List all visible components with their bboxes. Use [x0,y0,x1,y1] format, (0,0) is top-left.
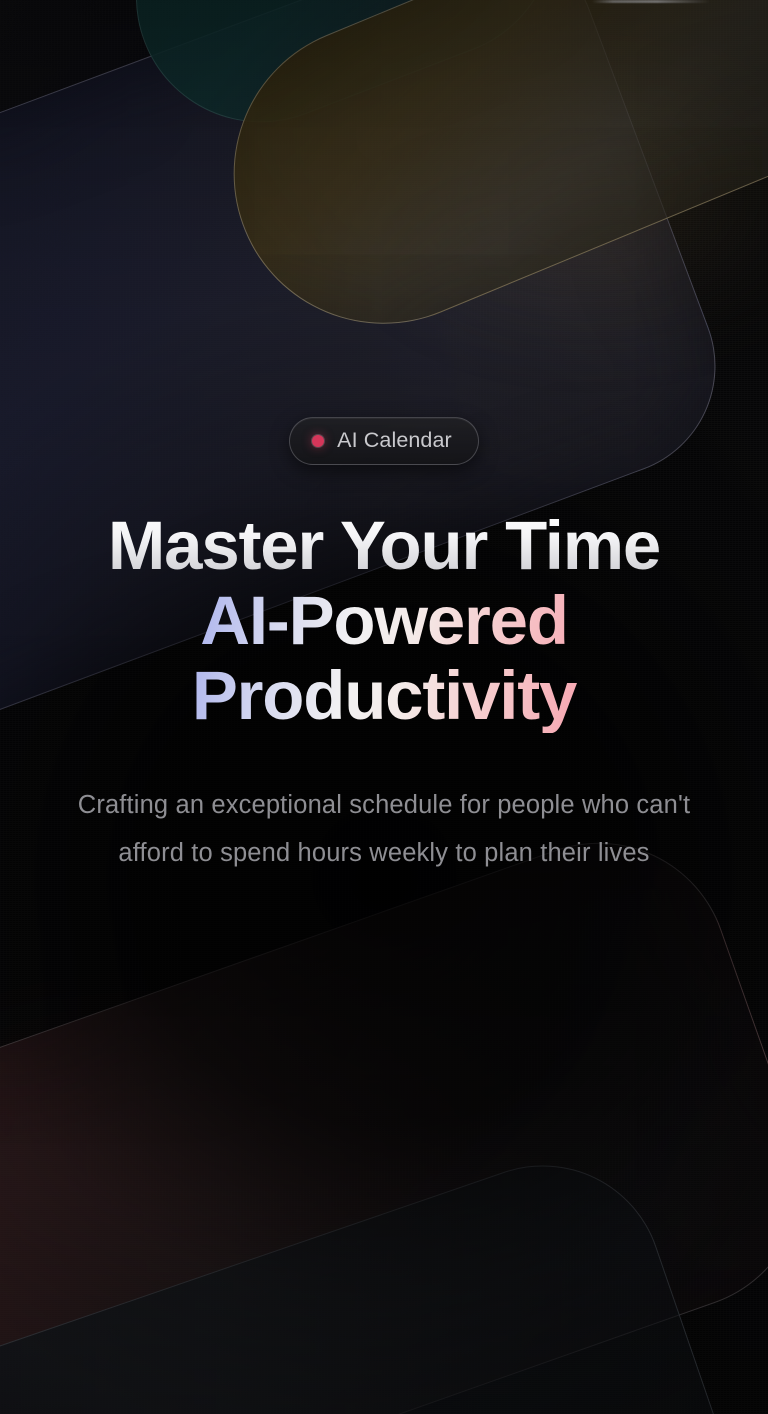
headline-line-1: Master Your Time [108,508,660,583]
headline-accent-group: AI-Powered Productivity [108,583,660,733]
hero-content: AI Calendar Master Your Time AI-Powered … [0,0,768,1414]
ai-calendar-badge[interactable]: AI Calendar [289,417,479,465]
ai-calendar-badge-label: AI Calendar [337,430,452,452]
hero-subtitle: Crafting an exceptional schedule for peo… [54,781,714,877]
headline-line-3: Productivity [108,658,660,733]
status-dot-icon [312,435,324,447]
headline-line-2: AI-Powered [108,583,660,658]
hero-page: AI Calendar Master Your Time AI-Powered … [0,0,768,1414]
page-title: Master Your Time AI-Powered Productivity [108,508,660,733]
